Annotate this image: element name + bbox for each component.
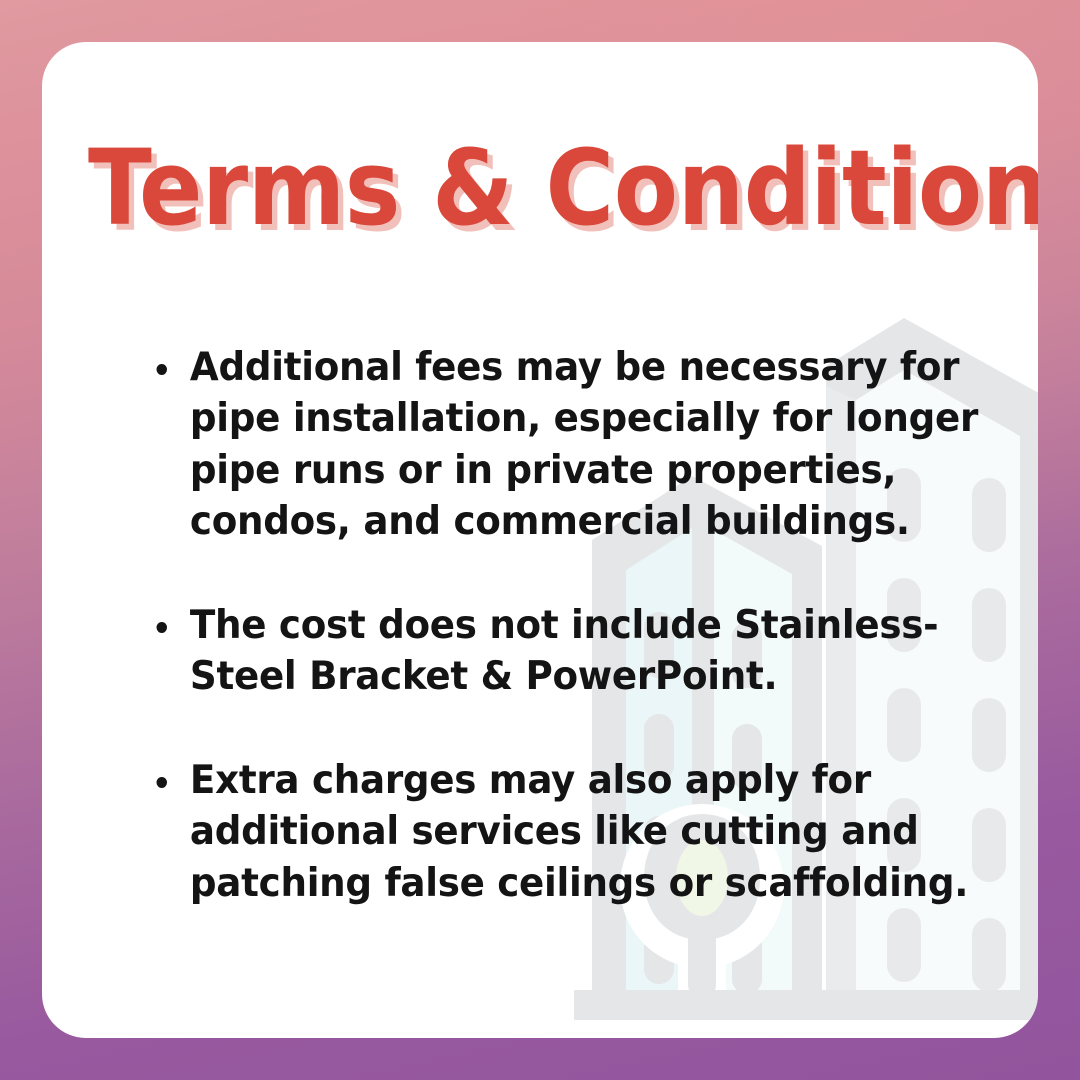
terms-list: Additional fees may be necessary for pip…	[146, 342, 1038, 909]
bullet-dot-icon	[157, 622, 168, 633]
poster-canvas: Terms & Conditions: Additional fees may …	[0, 0, 1080, 1080]
list-item-text: Additional fees may be necessary for pip…	[190, 342, 1006, 548]
bullet-dot-icon	[157, 364, 168, 375]
list-item: Additional fees may be necessary for pip…	[146, 342, 1006, 548]
list-item: The cost does not include Stainless-Stee…	[146, 600, 1006, 703]
list-item-text: The cost does not include Stainless-Stee…	[190, 600, 1006, 703]
list-item-text: Extra charges may also apply for additio…	[190, 755, 1006, 909]
list-item: Extra charges may also apply for additio…	[146, 755, 1006, 909]
page-title: Terms & Conditions:	[88, 134, 916, 243]
terms-card: Terms & Conditions: Additional fees may …	[42, 42, 1038, 1038]
bullet-dot-icon	[157, 777, 168, 788]
card-content: Terms & Conditions: Additional fees may …	[42, 42, 1038, 1038]
